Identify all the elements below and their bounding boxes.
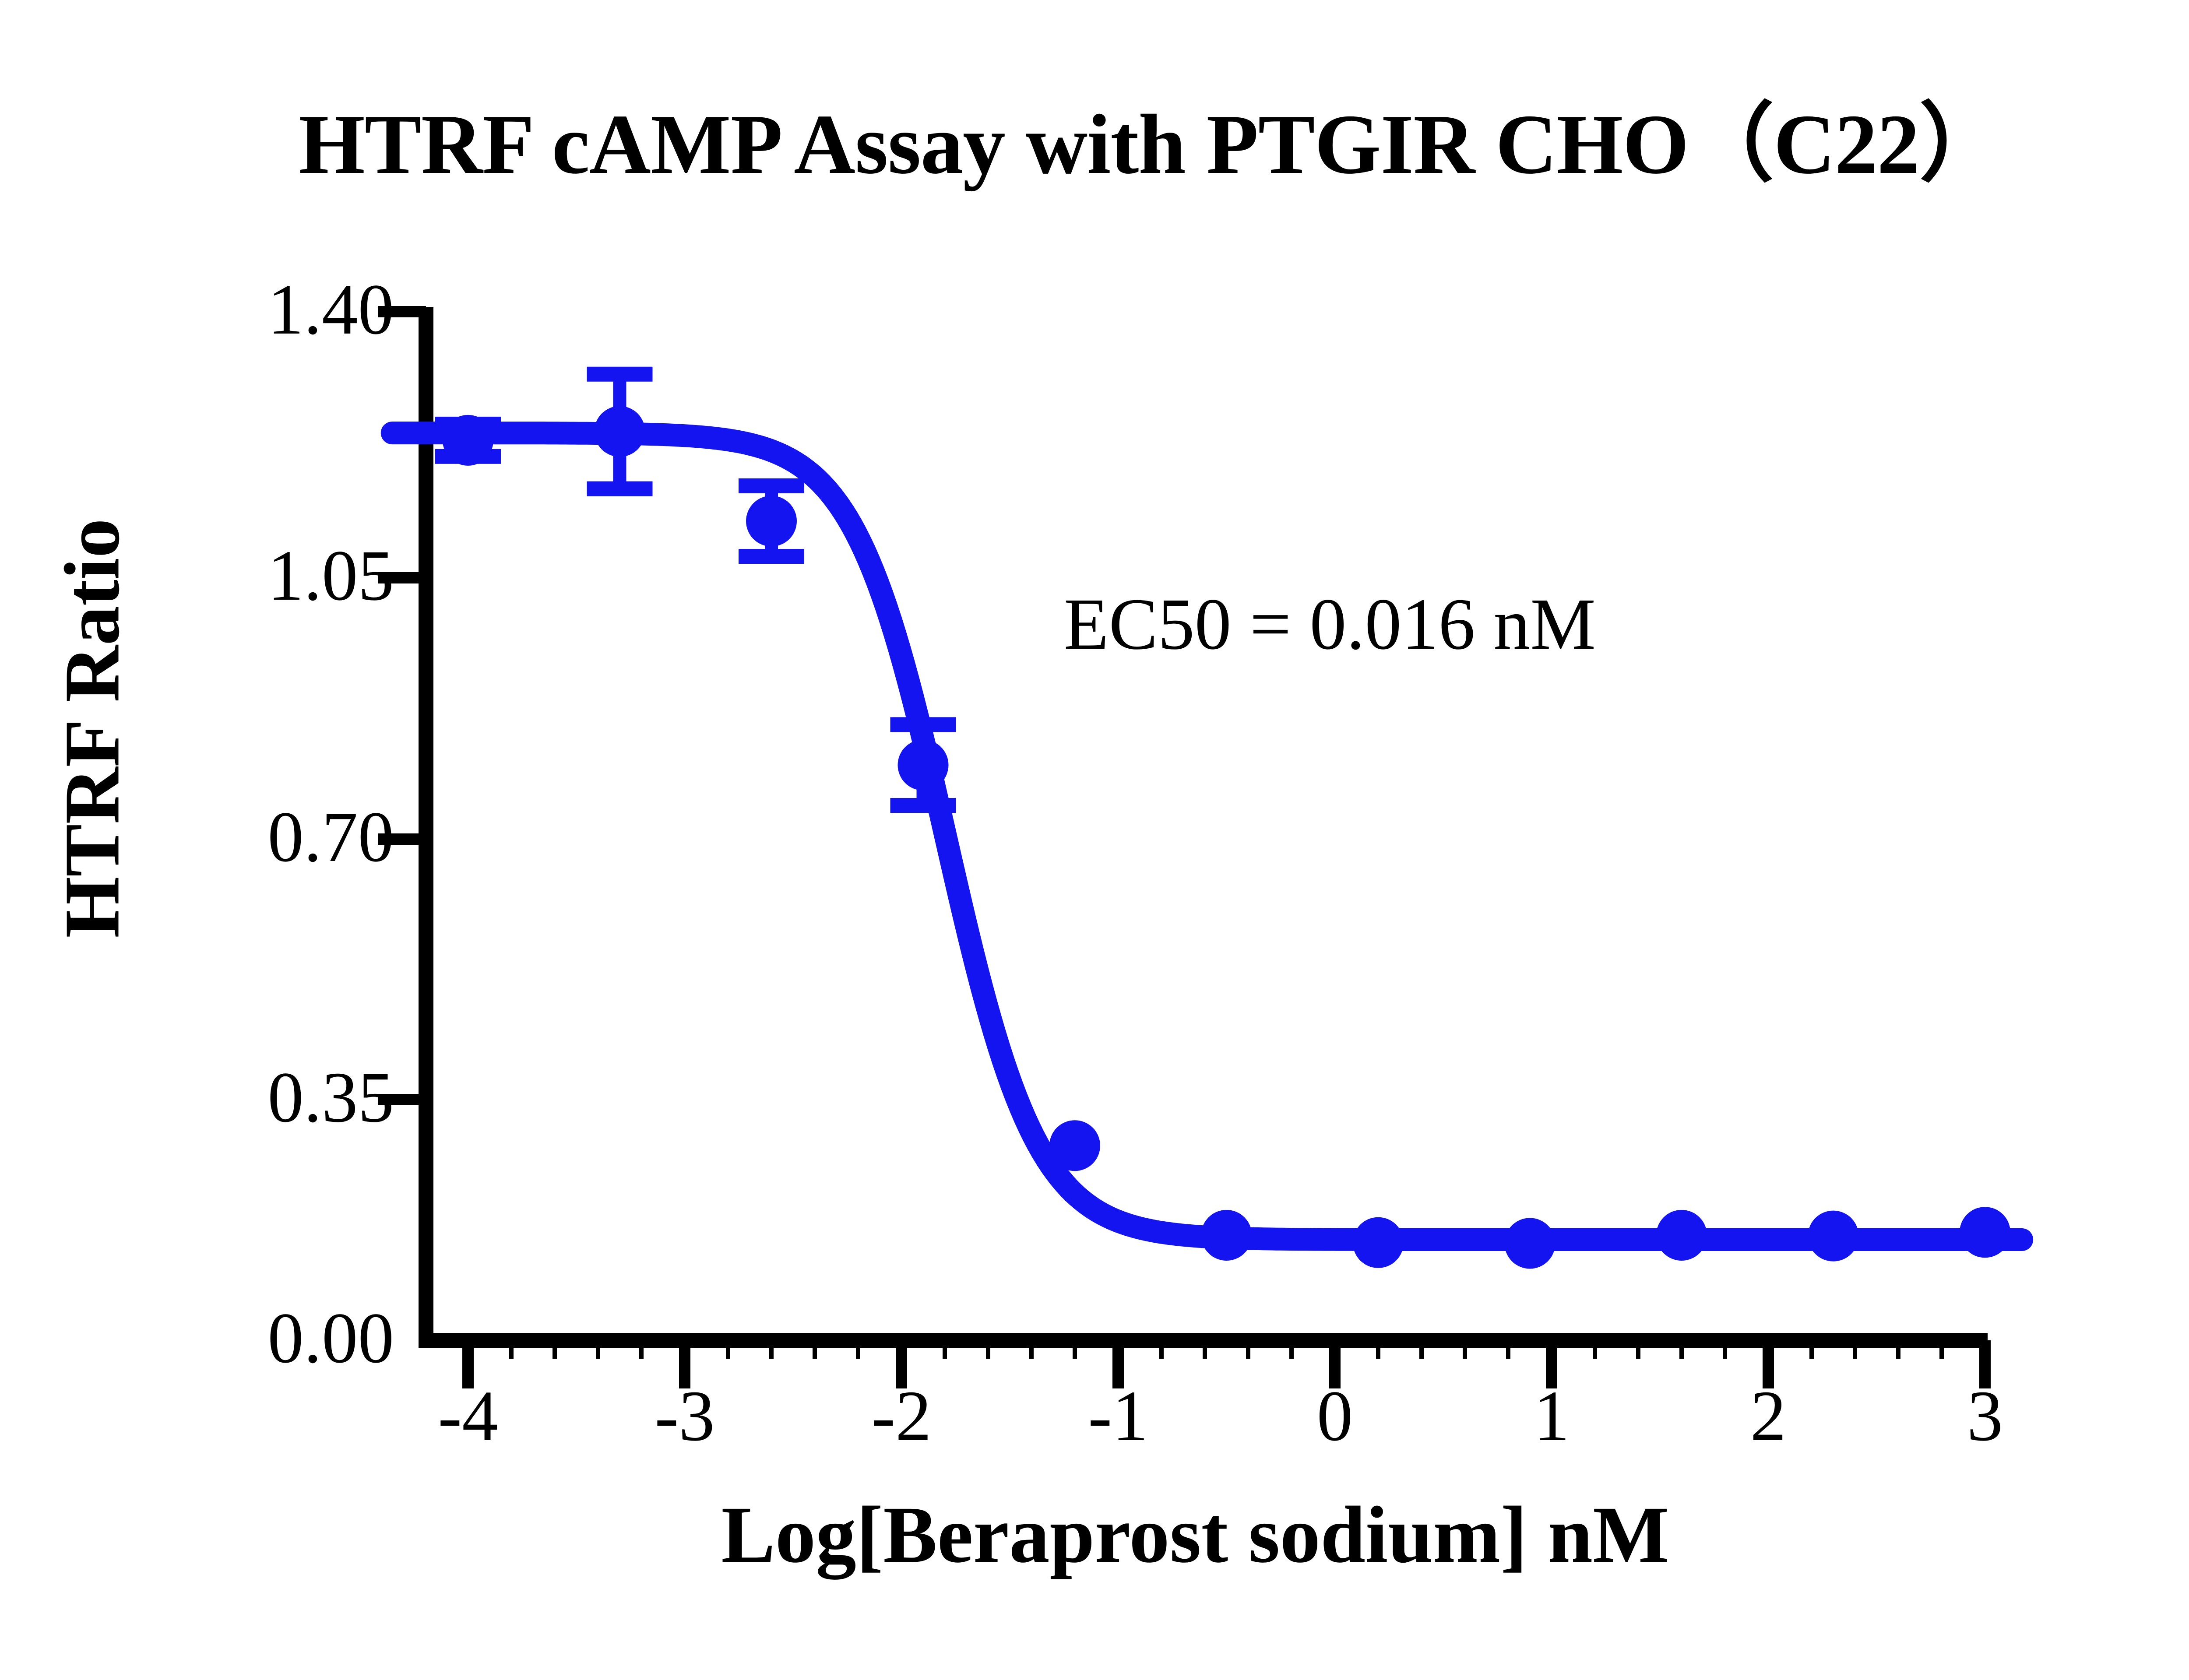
- data-point: [1656, 1210, 1707, 1261]
- data-point: [1201, 1210, 1252, 1261]
- data-point: [1505, 1218, 1556, 1269]
- data-point: [898, 740, 949, 791]
- data-point: [595, 406, 645, 457]
- data-point: [1353, 1217, 1404, 1268]
- plot-area: [0, 0, 2189, 1680]
- data-point: [443, 415, 493, 466]
- data-markers: [443, 406, 2010, 1269]
- fit-curve: [392, 433, 2022, 1240]
- data-point: [1808, 1211, 1859, 1262]
- data-point: [1960, 1207, 2010, 1258]
- data-point: [746, 496, 797, 546]
- chart-page: HTRF cAMP Assay with PTGIR CHO（C22） HTRF…: [0, 0, 2189, 1680]
- data-point: [1049, 1120, 1100, 1171]
